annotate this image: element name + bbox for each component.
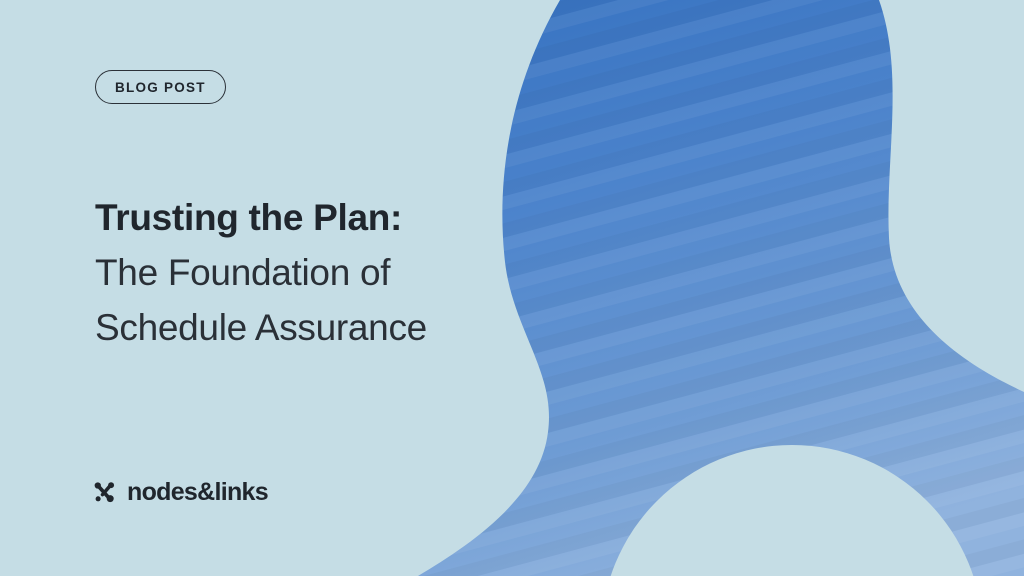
blog-post-badge: BLOG POST [95, 70, 226, 104]
brand-wordmark: nodes&links [127, 480, 268, 505]
blog-post-hero-card: BLOG POST Trusting the Plan: The Foundat… [0, 0, 1024, 576]
nodes-and-links-graph-mark [92, 478, 120, 506]
light-circle-cutout [601, 445, 983, 576]
title-line-1: Trusting the Plan: [95, 190, 525, 245]
badge-label: BLOG POST [115, 80, 206, 95]
title-line-3: Schedule Assurance [95, 300, 525, 355]
page-title: Trusting the Plan: The Foundation of Sch… [95, 190, 525, 355]
brand-logo: nodes&links [92, 478, 268, 506]
title-line-2: The Foundation of [95, 245, 525, 300]
